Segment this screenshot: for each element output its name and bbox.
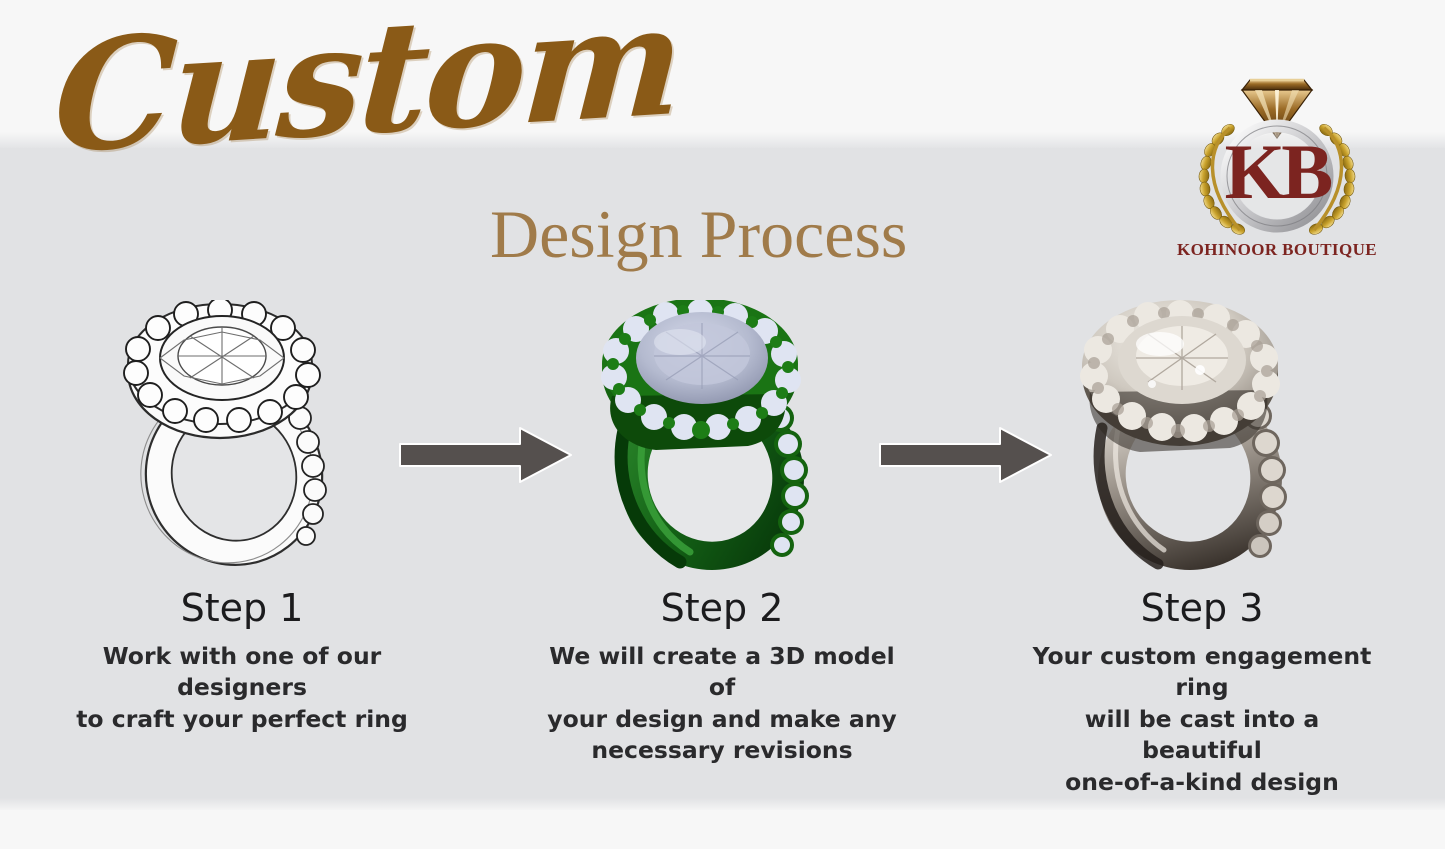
headline-design-process: Design Process	[490, 200, 990, 268]
step-1-artwork	[62, 300, 422, 575]
step-2-artwork	[542, 300, 902, 575]
brand-logo[interactable]: KB KOHINOOR BOUTIQUE	[1152, 58, 1402, 283]
diamond-ring-logo-icon: KB	[1152, 58, 1402, 243]
brand-name-label: KOHINOOR BOUTIQUE	[1152, 240, 1402, 260]
step-1-caption: Work with one of our designers to craft …	[62, 641, 422, 735]
step-3-caption: Your custom engagement ring will be cast…	[1022, 641, 1382, 798]
custom-design-process-banner: Custom Design Process	[0, 0, 1445, 849]
step-3-heading: Step 3	[1022, 589, 1382, 629]
step-column-3: Step 3 Your custom engagement ring will …	[1022, 300, 1382, 798]
step-column-1: Step 1 Work with one of our designers to…	[62, 300, 422, 735]
step-2-caption: We will create a 3D model of your design…	[542, 641, 902, 767]
ring-photo-icon	[1022, 300, 1382, 575]
step-column-2: Step 2 We will create a 3D model of your…	[542, 300, 902, 767]
svg-text:KB: KB	[1225, 128, 1332, 215]
ring-cad-model-icon	[542, 300, 902, 575]
step-2-heading: Step 2	[542, 589, 902, 629]
step-3-artwork	[1022, 300, 1382, 575]
ring-sketch-icon	[62, 300, 422, 575]
step-1-heading: Step 1	[62, 589, 422, 629]
headline-custom: Custom	[50, 0, 698, 174]
background-band-bottom	[0, 810, 1445, 849]
